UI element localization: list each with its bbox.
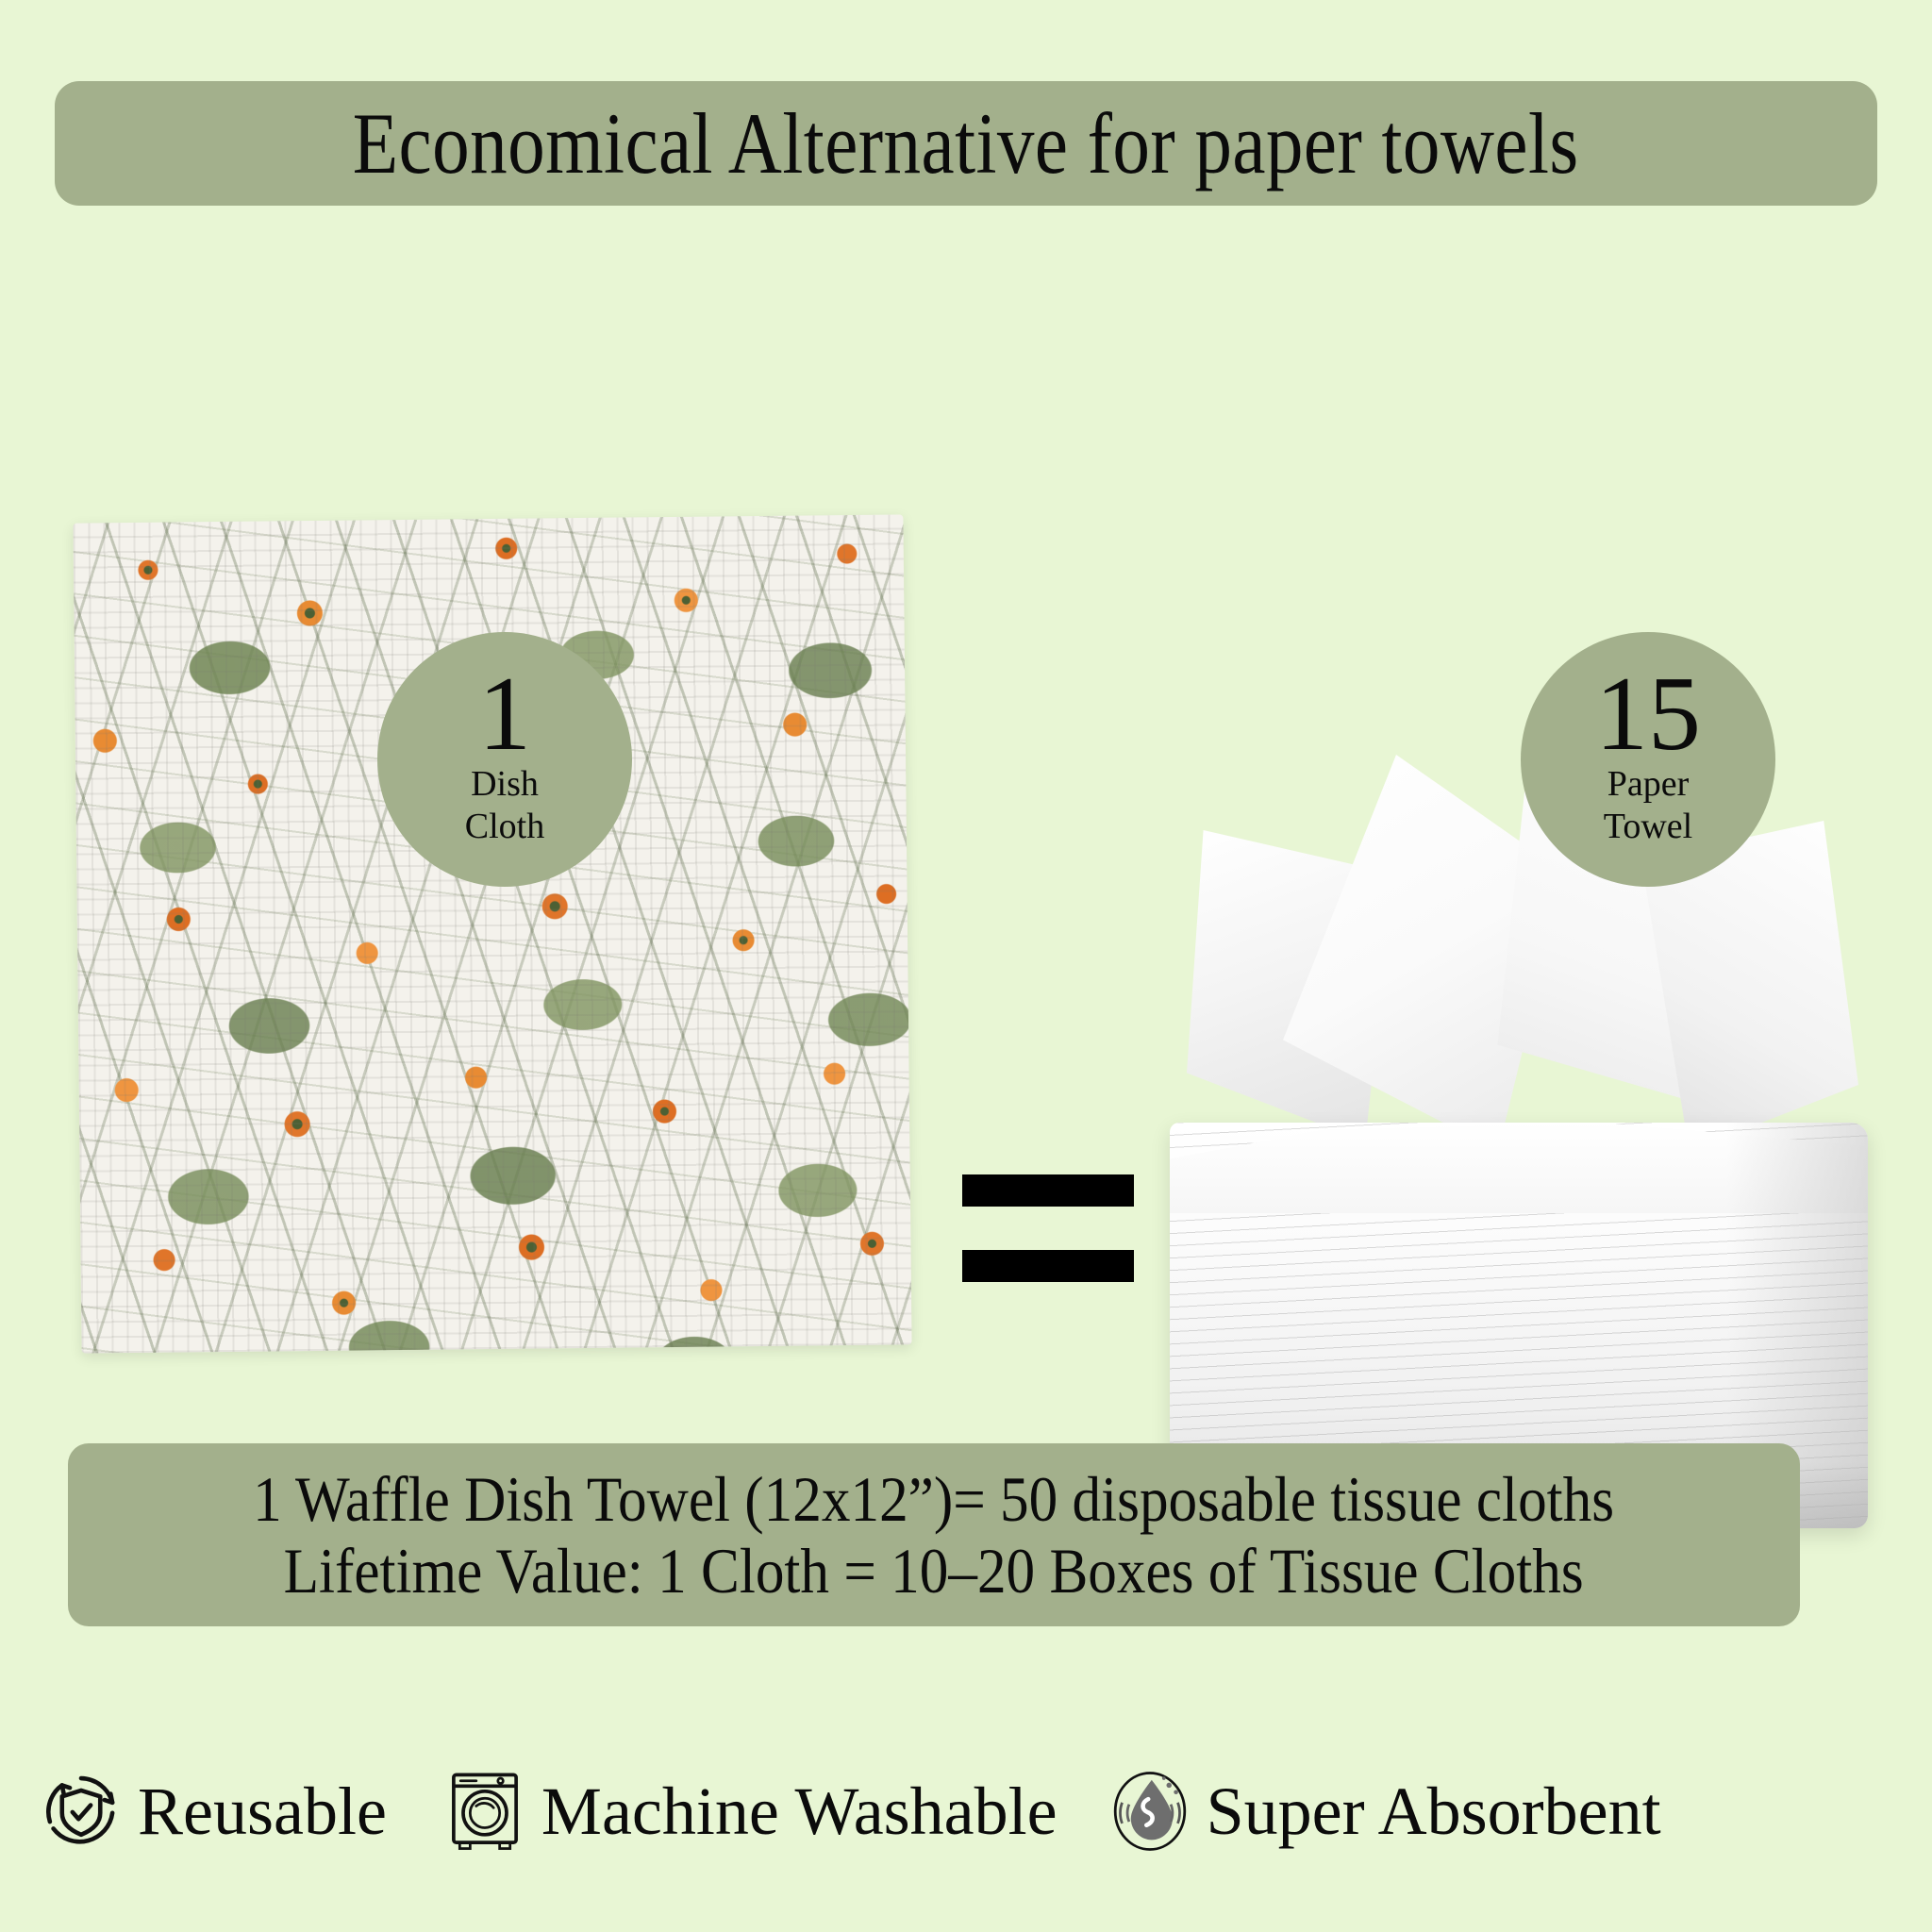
value-info-line-1: 1 Waffle Dish Towel (12x12”)= 50 disposa… bbox=[254, 1465, 1615, 1533]
page-title: Economical Alternative for paper towels bbox=[353, 100, 1579, 187]
value-info-line-2: Lifetime Value: 1 Cloth = 10–20 Boxes of… bbox=[284, 1537, 1584, 1605]
feature-reusable-label: Reusable bbox=[138, 1777, 387, 1845]
feature-reusable: Reusable bbox=[38, 1768, 387, 1855]
badge-dish-cloth-number: 1 bbox=[478, 666, 531, 763]
equals-sign-icon bbox=[962, 1174, 1134, 1297]
feature-machine-washable-label: Machine Washable bbox=[541, 1777, 1058, 1845]
badge-paper-towel-number: 15 bbox=[1595, 666, 1701, 763]
feature-super-absorbent: Super Absorbent bbox=[1107, 1768, 1661, 1855]
value-info-banner: 1 Waffle Dish Towel (12x12”)= 50 disposa… bbox=[68, 1443, 1800, 1626]
comparison-stage: 1 Dish Cloth 15 Paper Towel bbox=[0, 283, 1932, 1396]
washing-machine-icon bbox=[441, 1768, 528, 1855]
badge-paper-towel-line1: Paper bbox=[1607, 763, 1690, 806]
badge-dish-cloth: 1 Dish Cloth bbox=[377, 632, 632, 887]
water-drop-icon bbox=[1107, 1768, 1193, 1855]
feature-row: Reusable Machine Washable bbox=[32, 1740, 1909, 1882]
equals-bar-top bbox=[962, 1174, 1134, 1207]
feature-machine-washable: Machine Washable bbox=[441, 1768, 1058, 1855]
badge-paper-towel-line2: Towel bbox=[1604, 806, 1692, 848]
badge-dish-cloth-line1: Dish bbox=[471, 763, 539, 806]
badge-dish-cloth-line2: Cloth bbox=[465, 806, 544, 848]
equals-bar-bottom bbox=[962, 1250, 1134, 1282]
feature-super-absorbent-label: Super Absorbent bbox=[1207, 1777, 1661, 1845]
title-banner: Economical Alternative for paper towels bbox=[55, 81, 1877, 206]
reusable-icon bbox=[38, 1768, 125, 1855]
badge-paper-towel: 15 Paper Towel bbox=[1521, 632, 1775, 887]
